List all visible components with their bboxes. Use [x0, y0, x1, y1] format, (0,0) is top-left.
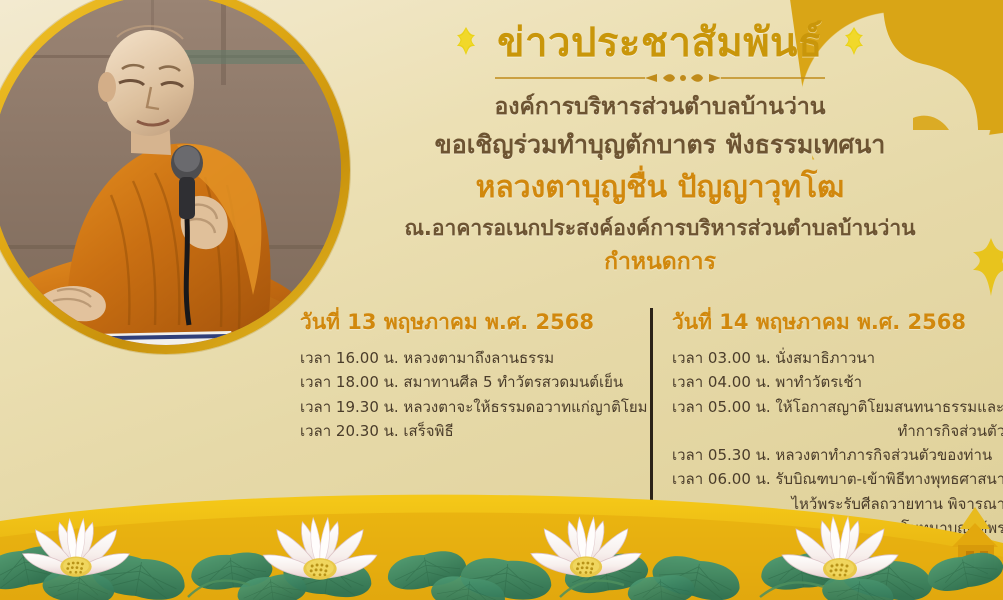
schedule-section: วันที่ 13 พฤษภาคม พ.ศ. 2568 เวลา 16.00 น…	[300, 306, 990, 540]
schedule-item-continuation: ไหว้พระรับศีลถวายทาน พิจารณา	[672, 492, 1003, 516]
schedule-item: เวลา 20.30 น. เสร็จพิธี	[300, 419, 640, 443]
schedule-item: เวลา 18.00 น. สมาทานศีล 5 ทำวัตรสวดมนต์เ…	[300, 370, 640, 394]
poster-header: ข่าวประชาสัมพันธ์ องค์การบริหารส่วนตำบลบ…	[330, 18, 990, 279]
schedule-item: เวลา 06.00 น. รับบิณฑบาต-เข้าพิธีทางพุทธ…	[672, 467, 1003, 491]
monk-name: หลวงตาบุญชื่น ปัญญาวุทโฒ	[330, 164, 990, 212]
schedule-item: เวลา 05.00 น. ให้โอกาสญาติโยมสนทนาธรรมแล…	[672, 395, 1003, 419]
quatrefoil-ornament-icon	[451, 26, 481, 60]
day2-date: วันที่ 14 พฤษภาคม พ.ศ. 2568	[672, 306, 1003, 339]
invitation-line: ขอเชิญร่วมทำบุญตักบาตร ฟังธรรมเทศนา	[330, 126, 990, 165]
monk-portrait-photo	[0, 0, 341, 345]
quatrefoil-ornament-icon	[839, 26, 869, 60]
schedule-column-day1: วันที่ 13 พฤษภาคม พ.ศ. 2568 เวลา 16.00 น…	[300, 306, 654, 443]
schedule-item-continuation: ทำการกิจส่วนตัว	[672, 419, 1003, 443]
schedule-item: เวลา 16.00 น. หลวงตามาถึงลานธรรม	[300, 346, 640, 370]
schedule-item: เวลา 04.00 น. พาทำวัตรเช้า	[672, 370, 1003, 394]
schedule-column-day2: วันที่ 14 พฤษภาคม พ.ศ. 2568 เวลา 03.00 น…	[654, 306, 1003, 540]
day1-date: วันที่ 13 พฤษภาคม พ.ศ. 2568	[300, 306, 640, 339]
page-title: ข่าวประชาสัมพันธ์	[497, 18, 823, 68]
title-flourish-divider-icon	[495, 70, 825, 84]
quatrefoil-edge-icon	[965, 236, 1003, 302]
schedule-item: เวลา 03.00 น. นั่งสมาธิภาวนา	[672, 346, 1003, 370]
venue-line: ณ.อาคารอเนกประสงค์องค์การบริหารส่วนตำบลบ…	[330, 212, 990, 245]
schedule-item: เวลา 19.30 น. หลวงตาจะให้ธรรมดอวาทแก่ญาต…	[300, 395, 640, 419]
schedule-item-continuation: อาหาร อนุโมทนาบุญให้พร	[672, 516, 1003, 540]
monk-photo-frame	[0, 0, 350, 354]
organization-name: องค์การบริหารส่วนตำบลบ้านว่าน	[330, 90, 990, 126]
announcement-poster: ข่าวประชาสัมพันธ์ องค์การบริหารส่วนตำบลบ…	[0, 0, 1003, 600]
agenda-heading: กำหนดการ	[330, 245, 990, 280]
title-row: ข่าวประชาสัมพันธ์	[330, 18, 990, 68]
schedule-item: เวลา 05.30 น. หลวงตาทำภารกิจส่วนตัวของท่…	[672, 443, 1003, 467]
